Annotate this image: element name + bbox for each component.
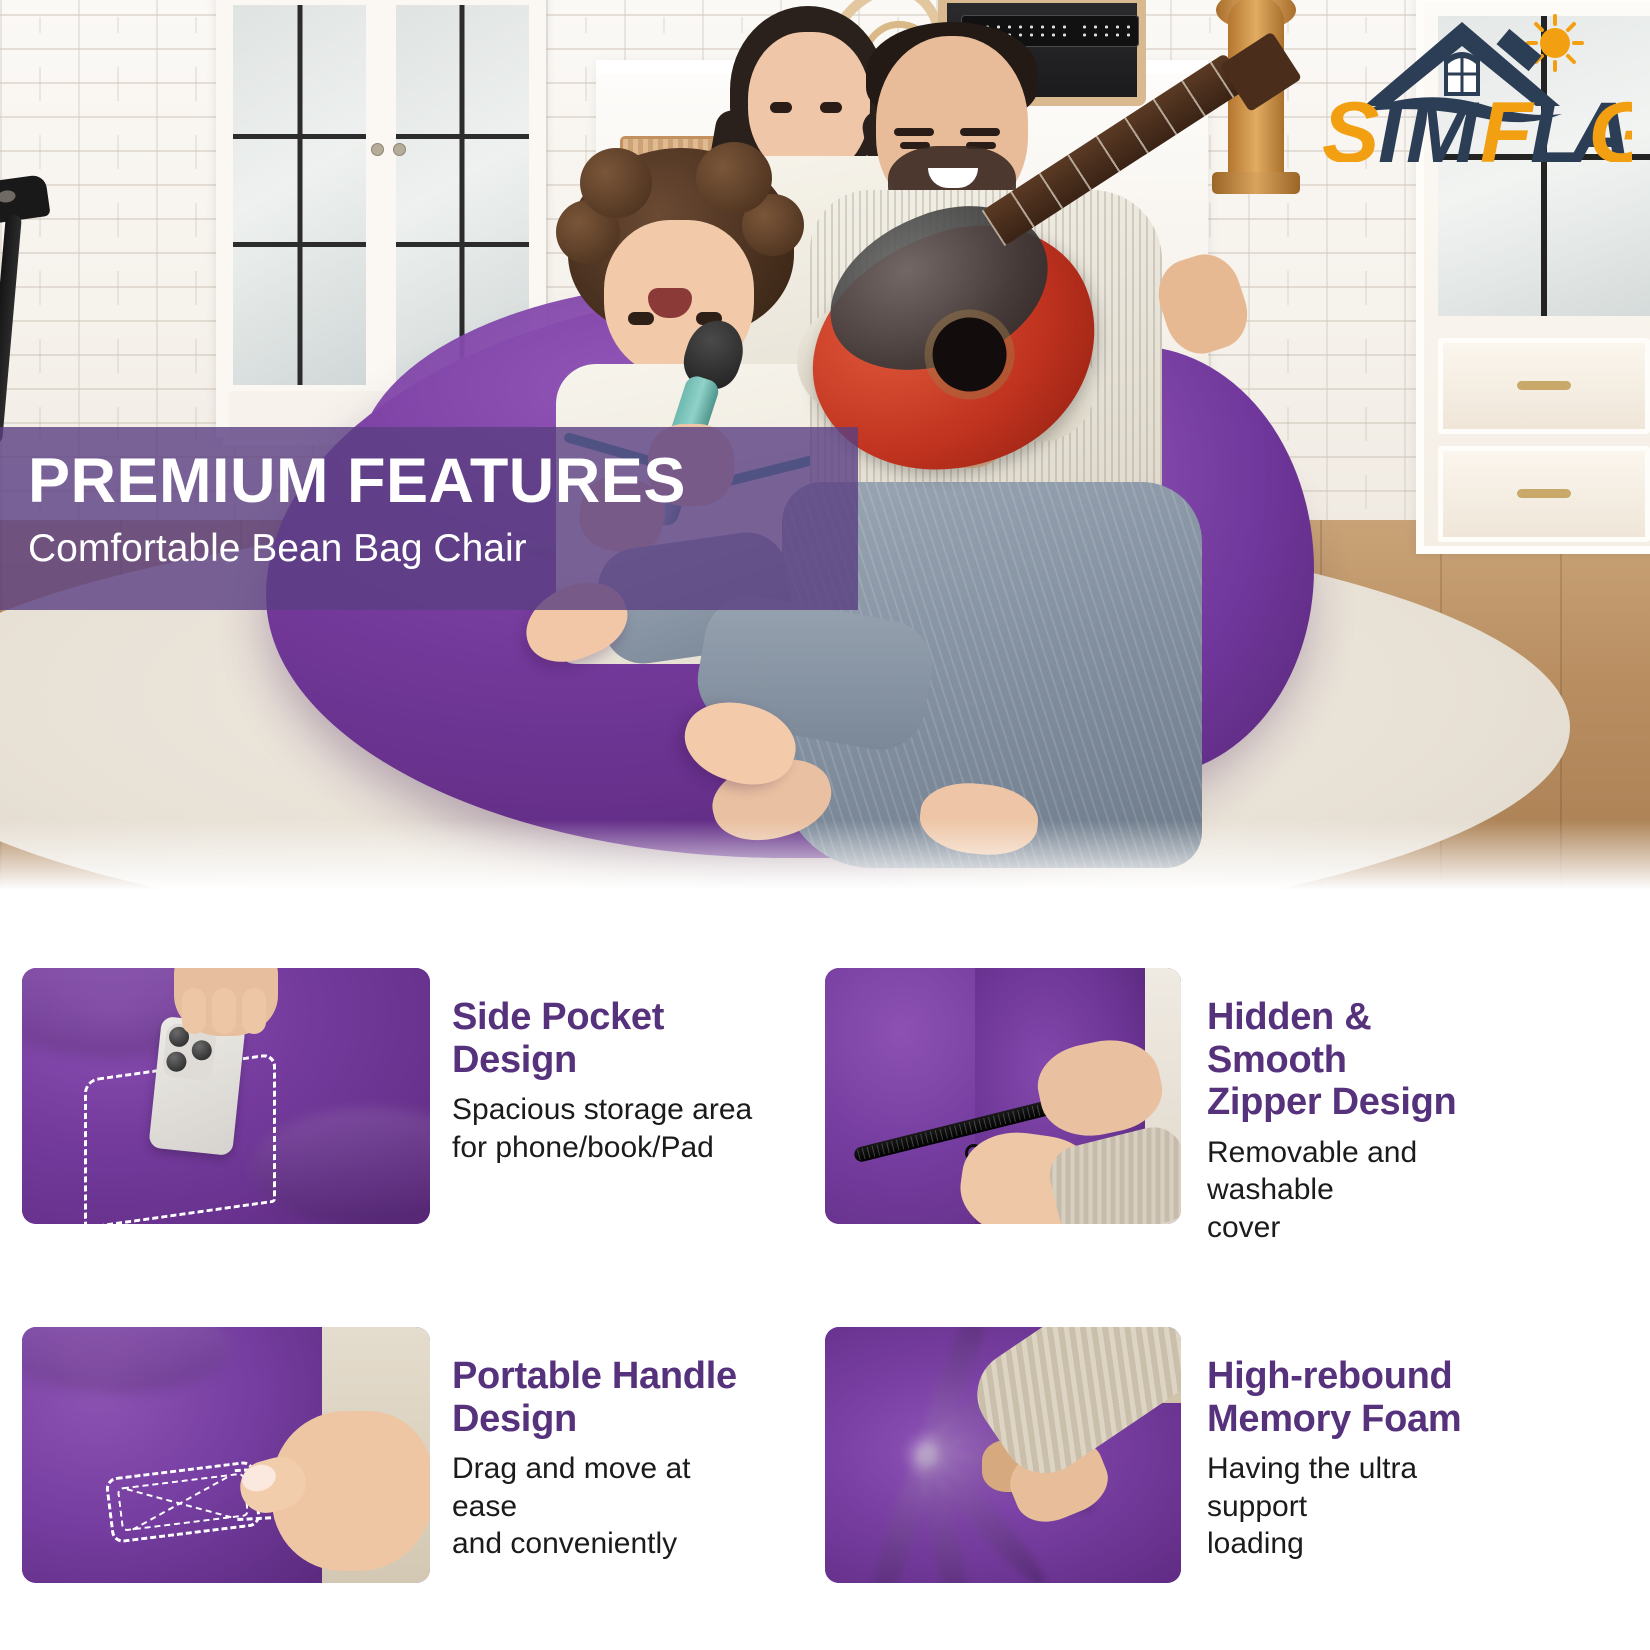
feature-title-line1: Hidden & Smooth bbox=[1207, 996, 1371, 1081]
premium-features-banner: PREMIUM FEATURES Comfortable Bean Bag Ch… bbox=[0, 427, 858, 610]
feature-title-line1: High-rebound bbox=[1207, 1355, 1452, 1397]
feature-title-line1: Portable Handle bbox=[452, 1355, 737, 1397]
feature-body-line1: Spacious storage area bbox=[452, 1093, 752, 1126]
girl-eye-left bbox=[770, 102, 792, 113]
feature-image-memory-foam bbox=[825, 1327, 1181, 1583]
feature-body-line2: and conveniently bbox=[452, 1527, 677, 1560]
boy-curl bbox=[696, 142, 772, 214]
feature-image-hidden-zipper bbox=[825, 968, 1181, 1224]
feature-text-portable-handle: Portable Handle Design Drag and move at … bbox=[430, 1327, 760, 1563]
feature-body-line1: Having the ultra support bbox=[1207, 1452, 1417, 1523]
hero-image: PREMIUM FEATURES Comfortable Bean Bag Ch… bbox=[0, 0, 1650, 905]
feature-text-hidden-zipper: Hidden & Smooth Zipper Design Removable … bbox=[1181, 968, 1511, 1246]
finger bbox=[182, 988, 206, 1034]
feature-body-line2: for phone/book/Pad bbox=[452, 1131, 714, 1164]
cabinet-door-left bbox=[227, 0, 372, 402]
svg-text:G: G bbox=[1589, 85, 1632, 162]
right-cabinet-drawer-bottom bbox=[1438, 446, 1650, 542]
banner-subtitle: Comfortable Bean Bag Chair bbox=[28, 527, 858, 571]
feature-title-line2: Zipper Design bbox=[1207, 1081, 1456, 1123]
feature-body-line1: Drag and move at ease bbox=[452, 1452, 690, 1523]
feature-grid: Side Pocket Design Spacious storage area… bbox=[0, 905, 1650, 1650]
feature-portable-handle: Portable Handle Design Drag and move at … bbox=[22, 1327, 760, 1583]
bottom-fade bbox=[0, 820, 1650, 905]
man-brow-left bbox=[894, 128, 934, 136]
smartphone bbox=[148, 1016, 245, 1156]
feature-body: Removable and washable cover bbox=[1207, 1134, 1511, 1247]
feature-image-portable-handle bbox=[22, 1327, 430, 1583]
finger bbox=[212, 988, 236, 1034]
feature-title: Hidden & Smooth Zipper Design bbox=[1207, 996, 1511, 1124]
feature-title-line2: Design bbox=[452, 1039, 577, 1081]
feature-side-pocket: Side Pocket Design Spacious storage area… bbox=[22, 968, 760, 1224]
feature-text-side-pocket: Side Pocket Design Spacious storage area… bbox=[430, 968, 760, 1166]
simflag-logo: S I M F L A G bbox=[1302, 14, 1632, 162]
feature-text-memory-foam: High-rebound Memory Foam Having the ultr… bbox=[1181, 1327, 1511, 1563]
boy-curl bbox=[580, 148, 652, 218]
cabinet-knob-left bbox=[371, 143, 384, 156]
chair-leg bbox=[0, 214, 22, 445]
finger bbox=[242, 988, 266, 1034]
feature-title: Portable Handle Design bbox=[452, 1355, 760, 1440]
right-cabinet-drawer-top bbox=[1438, 338, 1650, 434]
drawer-pull bbox=[1517, 489, 1571, 498]
chair-detail bbox=[0, 189, 16, 203]
hand bbox=[174, 968, 278, 1036]
black-chair bbox=[0, 178, 56, 448]
svg-text:S: S bbox=[1322, 85, 1379, 162]
feature-title-line2: Design bbox=[452, 1398, 577, 1440]
svg-text:M: M bbox=[1406, 85, 1480, 162]
camera-lens bbox=[165, 1051, 187, 1073]
feature-title: High-rebound Memory Foam bbox=[1207, 1355, 1511, 1440]
drawer-pull bbox=[1517, 381, 1571, 390]
feature-title: Side Pocket Design bbox=[452, 996, 760, 1081]
feature-image-side-pocket bbox=[22, 968, 430, 1224]
camera-lens bbox=[191, 1039, 213, 1061]
feature-body: Having the ultra support loading bbox=[1207, 1450, 1511, 1563]
boy-eye-left bbox=[628, 312, 654, 325]
feature-memory-foam: High-rebound Memory Foam Having the ultr… bbox=[825, 1327, 1511, 1583]
brand-wordmark: S I M F L A G bbox=[1322, 85, 1632, 162]
feature-body: Drag and move at ease and conveniently bbox=[452, 1450, 760, 1563]
feature-title-line1: Side Pocket bbox=[452, 996, 664, 1038]
feature-body: Spacious storage area for phone/book/Pad bbox=[452, 1091, 760, 1166]
feature-hidden-zipper: Hidden & Smooth Zipper Design Removable … bbox=[825, 968, 1511, 1246]
feature-body-line2: loading bbox=[1207, 1527, 1304, 1560]
svg-text:F: F bbox=[1480, 85, 1535, 162]
feature-body-line2: cover bbox=[1207, 1211, 1280, 1244]
feature-title-line2: Memory Foam bbox=[1207, 1398, 1461, 1440]
cabinet-knob-right bbox=[393, 143, 406, 156]
svg-text:I: I bbox=[1378, 85, 1404, 162]
feature-body-line1: Removable and washable bbox=[1207, 1136, 1417, 1207]
banner-title: PREMIUM FEATURES bbox=[28, 449, 858, 513]
man-brow-right bbox=[960, 128, 1000, 136]
